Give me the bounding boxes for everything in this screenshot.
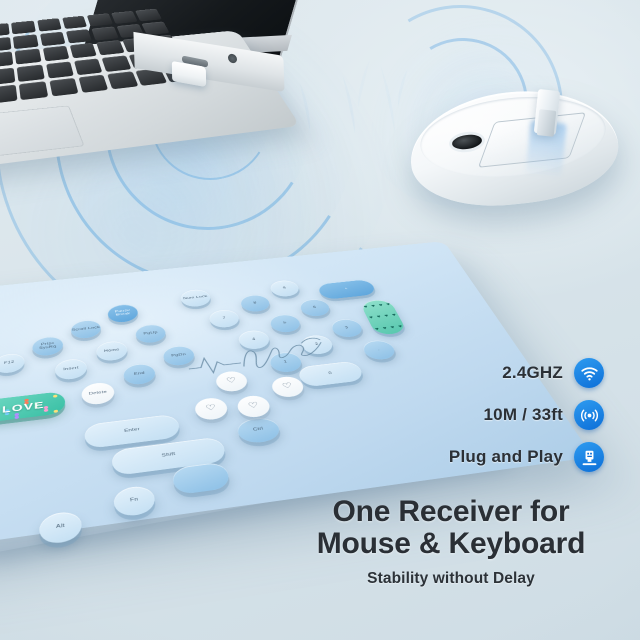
keyboard-key[interactable]: Insert — [55, 358, 88, 381]
headline-line-2: Mouse & Keyboard — [286, 528, 616, 560]
arrow-left-key[interactable]: ♡ — [193, 396, 229, 421]
laptop-key — [0, 85, 17, 104]
headline-line-1: One Receiver for — [286, 496, 616, 528]
heart-pattern: ♥♥♥♥♥♥♥♥♥♥♥♥ — [359, 299, 407, 336]
laptop-key — [43, 46, 70, 62]
keyboard-key[interactable]: Pause Break — [107, 303, 139, 323]
feature-label: 10M / 33ft — [484, 405, 563, 425]
laptop-key — [13, 34, 38, 49]
laptop-key — [62, 16, 87, 29]
feature-row-plug-and-play: Plug and Play — [340, 442, 604, 472]
laptop-key — [46, 61, 74, 78]
laptop-key — [49, 78, 79, 97]
laptop-key — [111, 11, 137, 24]
keyboard-key[interactable]: Ctrl — [235, 416, 283, 445]
laptop — [0, 0, 284, 184]
keyboard-key[interactable]: 8 — [239, 294, 272, 313]
laptop-key — [0, 37, 11, 52]
keyboard-key[interactable]: Prtsc SysRq — [32, 335, 63, 357]
signal-icon — [574, 400, 604, 430]
laptop-key — [11, 21, 35, 35]
laptop-key — [87, 13, 113, 26]
feature-row-frequency: 2.4GHZ — [340, 358, 604, 388]
laptop-key — [91, 26, 118, 40]
numpad-enter-key[interactable]: ♥♥♥♥♥♥♥♥♥♥♥♥ — [359, 299, 407, 336]
keyboard-key[interactable]: Fn — [113, 484, 157, 517]
laptop-key — [78, 75, 108, 93]
keyboard-key[interactable]: 7 — [208, 309, 242, 329]
keyboard-key[interactable]: Scroll Lock — [70, 319, 101, 340]
keyboard-key[interactable]: Alt — [39, 510, 82, 546]
laptop-key — [19, 81, 48, 100]
laptop-key — [0, 51, 13, 67]
usb-plug-icon — [574, 442, 604, 472]
laptop-key — [37, 18, 62, 31]
keyboard-key[interactable]: Delete — [81, 381, 115, 406]
laptop-key — [101, 55, 131, 72]
laptop-key — [70, 43, 98, 58]
keyboard-key[interactable]: + — [316, 279, 377, 300]
laptop-key — [66, 29, 92, 43]
feature-label: 2.4GHZ — [502, 363, 563, 383]
laptop-key — [107, 71, 138, 89]
headline-block: One Receiver for Mouse & Keyboard Stabil… — [286, 496, 616, 588]
keyboard-key[interactable]: F12 — [0, 352, 24, 374]
feature-list: 2.4GHZ 10M / 33ft — [340, 358, 604, 484]
laptop-key — [15, 48, 42, 64]
keyboard-key[interactable]: 9 — [268, 279, 301, 297]
keyboard-key[interactable]: Num Lock — [179, 288, 212, 307]
laptop-key — [0, 23, 10, 37]
laptop-key — [40, 31, 66, 46]
keyboard-key[interactable]: 6 — [298, 298, 333, 317]
keyboard-key[interactable]: End — [122, 362, 156, 385]
receiver-metal-tip — [537, 109, 557, 137]
arrow-down-key[interactable]: ♡ — [235, 394, 272, 419]
laptop-key — [0, 67, 15, 85]
feature-row-range: 10M / 33ft — [340, 400, 604, 430]
keyboard-key[interactable]: PgUp — [134, 323, 167, 344]
laptop-key — [17, 64, 45, 81]
product-banner: F11F12Prtsc SysRqScroll LockPause BreakN… — [0, 0, 640, 640]
keyboard-key[interactable]: 3 — [329, 318, 366, 339]
keyboard-key[interactable]: Home — [96, 340, 129, 362]
love-decor-key[interactable]: LOVE — [0, 391, 66, 423]
feature-label: Plug and Play — [449, 447, 563, 467]
wifi-icon — [574, 358, 604, 388]
laptop-key — [96, 40, 124, 55]
laptop-key — [74, 58, 103, 75]
keyboard-key[interactable]: 5 — [268, 313, 303, 333]
headline-subtitle: Stability without Delay — [286, 570, 616, 588]
